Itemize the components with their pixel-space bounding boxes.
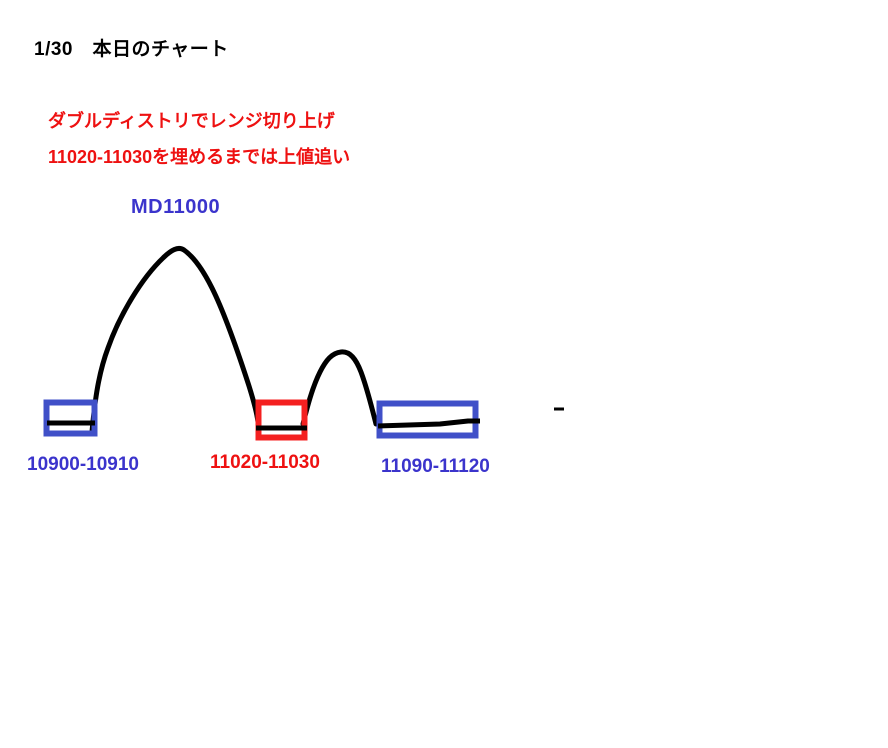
range-box-10900-10910: [47, 403, 95, 434]
range-box-11020-11030: [259, 403, 305, 438]
first-distribution-curve: [92, 248, 258, 432]
range-box-3-cross-line: [378, 421, 480, 426]
chart-canvas: 1/30 本日のチャート ダブルディストリでレンジ切り上げ 11020-1103…: [0, 0, 888, 748]
zone-label-11090-11120: 11090-11120: [381, 457, 490, 476]
zone-label-11020-11030: 11020-11030: [210, 453, 320, 472]
second-distribution-curve: [303, 352, 376, 424]
zone-label-10900-10910: 10900-10910: [27, 455, 139, 474]
hand-drawn-chart-figure: [0, 0, 888, 748]
